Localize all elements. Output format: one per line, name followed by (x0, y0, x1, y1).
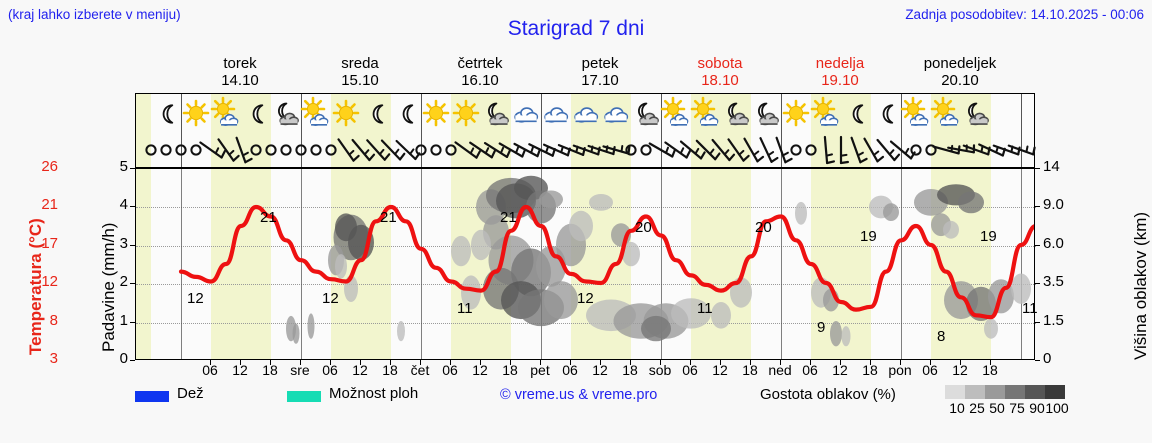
temperature-extreme-label: 20 (755, 219, 772, 236)
temperature-tick: 17 (28, 235, 58, 252)
moon-icon (240, 96, 272, 132)
cloud-density-ramp (945, 385, 1065, 399)
day-date: 19.10 (780, 72, 900, 89)
wind-barb (1006, 134, 1036, 166)
legend: Dež Možnost ploh © vreme.us & vreme.pro … (135, 385, 1145, 425)
sun-cloud-icon (660, 96, 692, 132)
moon-icon (150, 96, 182, 132)
temperature-extreme-label: 8 (937, 328, 945, 345)
x-tick-mark (600, 360, 601, 365)
day-header-sreda: sreda15.10 (300, 55, 420, 89)
day-date: 20.10 (900, 72, 1020, 89)
cloud-density-legend-title: Gostota oblakov (%) (760, 386, 896, 403)
x-tick-mark (900, 360, 901, 365)
day-header-ponedeljek: ponedeljek20.10 (900, 55, 1020, 89)
cloud-icon (540, 96, 572, 132)
moon-icon (390, 96, 422, 132)
precipitation-tick: 5 (110, 158, 128, 175)
day-header-torek: torek14.10 (180, 55, 300, 89)
sun-icon (330, 96, 362, 132)
day-name: petek (540, 55, 660, 72)
day-date: 18.10 (660, 72, 780, 89)
x-tick-mark (870, 360, 871, 365)
x-tick-mark (540, 360, 541, 365)
day-name: nedelja (780, 55, 900, 72)
precipitation-tick: 4 (110, 196, 128, 213)
daylight-band (136, 94, 151, 135)
day-name: sobota (660, 55, 780, 72)
day-header-nedelja: nedelja19.10 (780, 55, 900, 89)
temperature-extreme-label: 19 (980, 228, 997, 245)
temperature-extreme-label: 12 (187, 290, 204, 307)
sun-icon (780, 96, 812, 132)
cloud-density-step (1005, 385, 1025, 399)
legend-rain-swatch (135, 391, 169, 402)
day-header-četrtek: četrtek16.10 (420, 55, 540, 89)
weather-icon-strip (135, 93, 1035, 135)
cloud-height-tick: 0 (1043, 350, 1051, 367)
temperature-extreme-label: 21 (380, 209, 397, 226)
x-tick-mark (810, 360, 811, 365)
day-header-petek: petek17.10 (540, 55, 660, 89)
x-tick-mark (750, 360, 751, 365)
temperature-curve (136, 169, 1034, 359)
sun-cloud-icon (210, 96, 242, 132)
day-date: 16.10 (420, 72, 540, 89)
cloud-height-axis-title: Višina oblakov (km) (1131, 212, 1151, 360)
sun-cloud-icon (300, 96, 332, 132)
x-tick-mark (660, 360, 661, 365)
cloud-height-tick: 14 (1043, 158, 1060, 175)
moon-cloud-icon (630, 96, 662, 132)
temperature-extreme-label: 12 (322, 290, 339, 307)
legend-showers-swatch (287, 391, 321, 402)
day-name: četrtek (420, 55, 540, 72)
last-update-label: Zadnja posodobitev: 14.10.2025 - 00:06 (905, 7, 1144, 22)
temperature-extreme-label: 21 (500, 209, 517, 226)
day-separator (1021, 94, 1022, 135)
x-tick-mark (240, 360, 241, 365)
x-tick-mark (720, 360, 721, 365)
day-date: 14.10 (180, 72, 300, 89)
x-tick-mark (840, 360, 841, 365)
legend-rain-label: Dež (177, 385, 204, 402)
precipitation-tick: 2 (110, 273, 128, 290)
sun-icon (180, 96, 212, 132)
x-tick-mark (510, 360, 511, 365)
sun-cloud-icon (900, 96, 932, 132)
temperature-extreme-label: 21 (260, 209, 277, 226)
x-tick-mark (210, 360, 211, 365)
x-tick-mark (990, 360, 991, 365)
x-tick-mark (330, 360, 331, 365)
x-tick-mark (450, 360, 451, 365)
x-tick-mark (300, 360, 301, 365)
x-tick-mark (270, 360, 271, 365)
precipitation-tick: 0 (110, 350, 128, 367)
cloud-density-step (985, 385, 1005, 399)
sun-cloud-icon (930, 96, 962, 132)
meteogram-plot: 1221122111211220112091981911 (135, 168, 1035, 360)
moon-icon (360, 96, 392, 132)
x-tick-mark (480, 360, 481, 365)
x-tick-mark (570, 360, 571, 365)
cloud-height-tick: 6.0 (1043, 235, 1064, 252)
precipitation-tick: 1 (110, 312, 128, 329)
temperature-extreme-label: 12 (577, 290, 594, 307)
temperature-extreme-label: 20 (635, 219, 652, 236)
temperature-tick: 26 (28, 158, 58, 175)
day-header-sobota: sobota18.10 (660, 55, 780, 89)
day-date: 15.10 (300, 72, 420, 89)
day-name: torek (180, 55, 300, 72)
day-name: ponedeljek (900, 55, 1020, 72)
temperature-tick: 21 (28, 196, 58, 213)
cloud-height-tick: 3.5 (1043, 273, 1064, 290)
cloud-height-tick: 9.0 (1043, 196, 1064, 213)
axis-tick-mark (1035, 360, 1040, 361)
temperature-tick: 3 (28, 350, 58, 367)
axis-tick-mark (1035, 168, 1040, 169)
x-tick-mark (420, 360, 421, 365)
axis-tick-mark (130, 360, 135, 361)
moon-icon (840, 96, 872, 132)
cloud-icon (570, 96, 602, 132)
temperature-extreme-label: 9 (817, 319, 825, 336)
moon-cloud-icon (720, 96, 752, 132)
temperature-tick: 12 (28, 273, 58, 290)
sun-cloud-icon (690, 96, 722, 132)
moon-cloud-icon (480, 96, 512, 132)
sun-cloud-icon (810, 96, 842, 132)
cloud-icon (510, 96, 542, 132)
x-tick-mark (930, 360, 931, 365)
copyright-link[interactable]: © vreme.us & vreme.pro (500, 387, 657, 403)
moon-cloud-icon (750, 96, 782, 132)
precipitation-tick: 3 (110, 235, 128, 252)
cloud-density-step (965, 385, 985, 399)
moon-icon (870, 96, 902, 132)
temperature-extreme-label: 11 (697, 300, 713, 317)
wind-barb-strip (135, 134, 1035, 168)
sun-icon (450, 96, 482, 132)
moon-cloud-icon (270, 96, 302, 132)
cloud-density-step (1045, 385, 1065, 399)
x-tick-mark (690, 360, 691, 365)
day-date: 17.10 (540, 72, 660, 89)
cloud-height-tick: 1.5 (1043, 312, 1064, 329)
x-tick-mark (390, 360, 391, 365)
cloud-density-step (945, 385, 965, 399)
cloud-icon (600, 96, 632, 132)
x-tick-mark (960, 360, 961, 365)
x-tick-mark (780, 360, 781, 365)
temperature-extreme-label: 19 (860, 228, 877, 245)
cloud-density-ramp-labels: 1025507590100 (935, 400, 1077, 418)
cloud-density-step (1025, 385, 1045, 399)
moon-cloud-icon (960, 96, 992, 132)
temperature-tick: 8 (28, 312, 58, 329)
temperature-extreme-label: 11 (1022, 300, 1038, 317)
sun-icon (420, 96, 452, 132)
x-tick-mark (360, 360, 361, 365)
day-name: sreda (300, 55, 420, 72)
temperature-extreme-label: 11 (457, 300, 473, 317)
cloud-density-tick: 100 (1045, 400, 1069, 416)
legend-showers-label: Možnost ploh (329, 385, 418, 402)
x-tick-mark (630, 360, 631, 365)
